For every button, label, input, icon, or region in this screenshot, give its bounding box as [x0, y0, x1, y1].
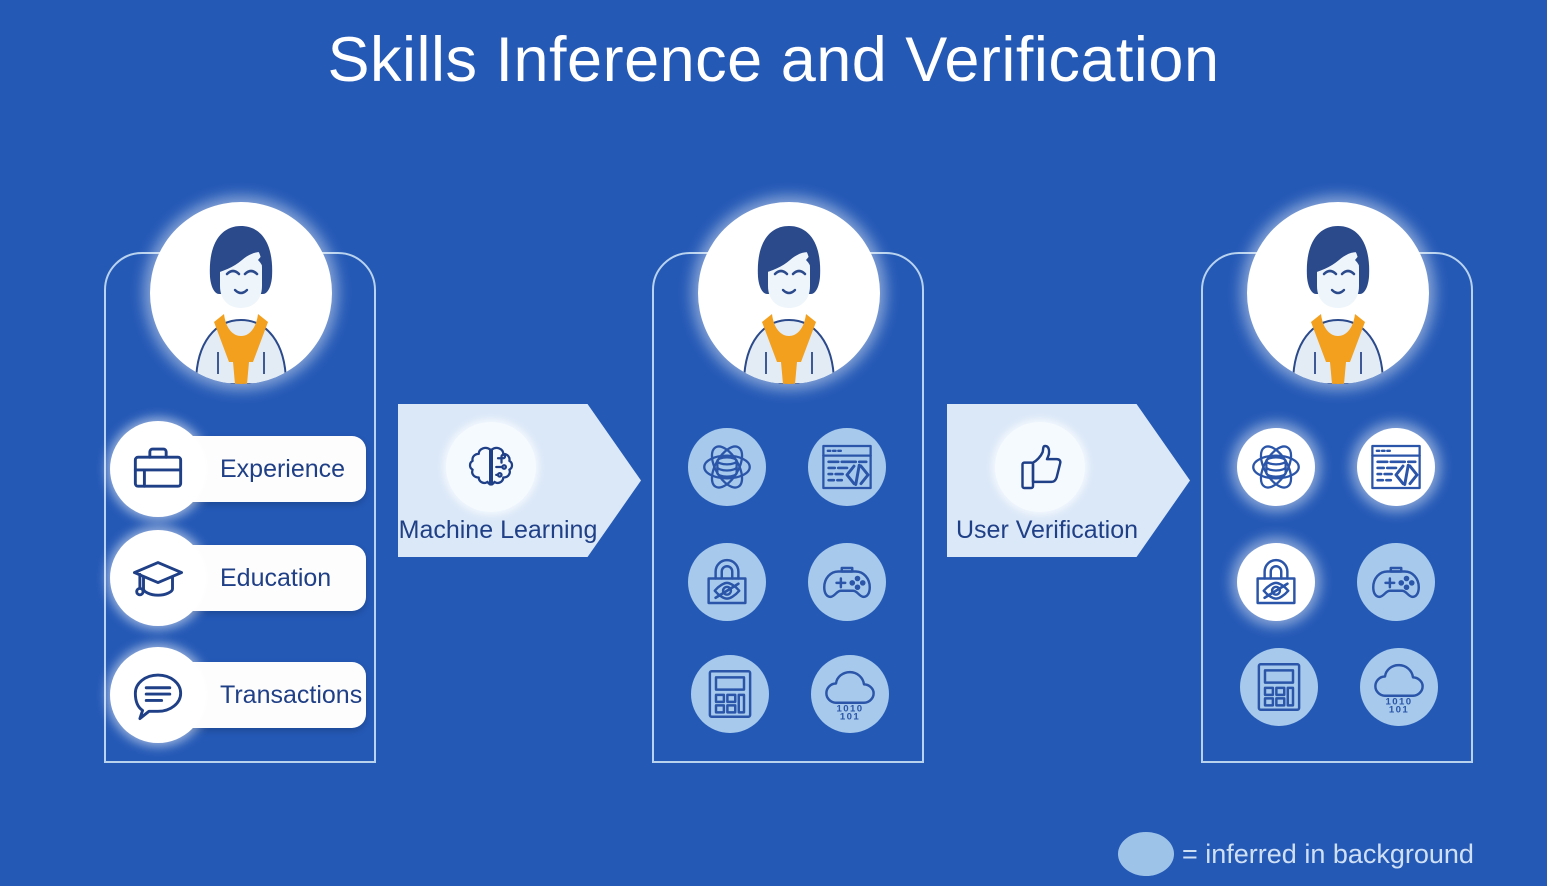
- avatar: [1247, 202, 1429, 384]
- skill-accounting[interactable]: [1240, 648, 1318, 726]
- process-arrow-label: Machine Learning: [398, 516, 598, 545]
- chat-bubble-icon: [110, 647, 206, 743]
- process-arrow-label: User Verification: [947, 516, 1147, 545]
- source-card-label: Transactions: [220, 662, 362, 728]
- process-arrow-user-verification: User Verification: [947, 404, 1190, 557]
- briefcase-icon: [110, 421, 206, 517]
- inferred-circle-icon: [1118, 832, 1174, 876]
- skill-accounting[interactable]: [691, 655, 769, 733]
- source-card-label: Education: [220, 545, 331, 611]
- svg-text:101: 101: [840, 711, 860, 722]
- skill-cloud-computing[interactable]: 1010 101: [1360, 648, 1438, 726]
- skill-data-science[interactable]: [1237, 428, 1315, 506]
- page-title: Skills Inference and Verification: [0, 26, 1547, 95]
- skill-coding[interactable]: [808, 428, 886, 506]
- skill-gaming[interactable]: [808, 543, 886, 621]
- skill-cloud-computing[interactable]: 1010 101: [811, 655, 889, 733]
- avatar: [150, 202, 332, 384]
- skill-coding[interactable]: [1357, 428, 1435, 506]
- thumbs-up-icon: [995, 422, 1085, 512]
- avatar: [698, 202, 880, 384]
- legend: = inferred in background: [1118, 832, 1474, 876]
- svg-text:101: 101: [1389, 704, 1409, 715]
- source-card-label: Experience: [220, 436, 345, 502]
- source-card-experience[interactable]: Experience: [128, 436, 366, 502]
- skill-data-science[interactable]: [688, 428, 766, 506]
- source-card-education[interactable]: Education: [128, 545, 366, 611]
- graduation-cap-icon: [110, 530, 206, 626]
- skill-privacy-security[interactable]: [688, 543, 766, 621]
- source-card-transactions[interactable]: Transactions: [128, 662, 366, 728]
- process-arrow-machine-learning: Machine Learning: [398, 404, 641, 557]
- brain-ai-icon: [446, 422, 536, 512]
- skill-gaming[interactable]: [1357, 543, 1435, 621]
- legend-label: = inferred in background: [1182, 839, 1474, 870]
- skill-privacy-security[interactable]: [1237, 543, 1315, 621]
